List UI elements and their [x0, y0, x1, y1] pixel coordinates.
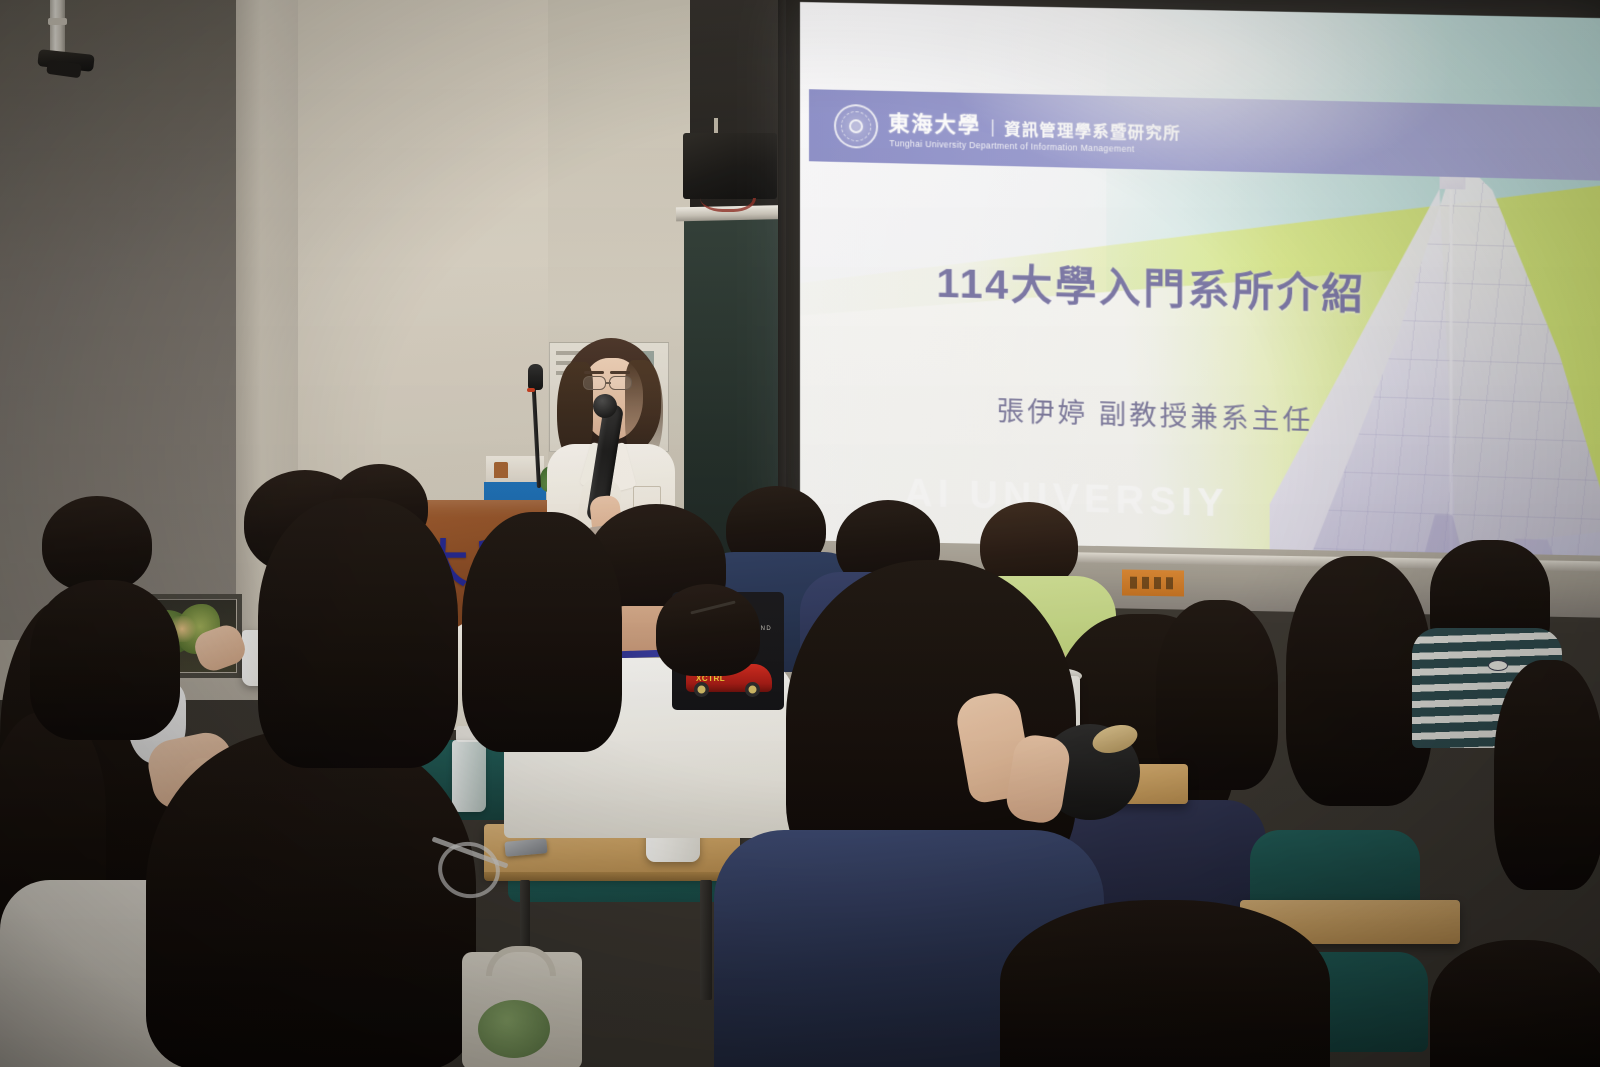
audience-head	[656, 584, 760, 676]
audience-head	[1000, 900, 1330, 1067]
audience-head	[1156, 600, 1278, 790]
round-tin	[478, 1000, 550, 1058]
department-name-cn: 資訊管理學系暨研究所	[1004, 115, 1181, 143]
audience-head	[42, 496, 152, 592]
lecture-hall-scene: 東海大學 | 資訊管理學系暨研究所 Tunghai University Dep…	[0, 0, 1600, 1067]
projection-screen: 東海大學 | 資訊管理學系暨研究所 Tunghai University Dep…	[800, 2, 1600, 571]
orange-notice-sign	[1122, 569, 1184, 596]
bag-strap	[486, 946, 556, 976]
audience-head	[462, 512, 622, 752]
eyeglasses	[583, 376, 606, 390]
header-divider: |	[990, 116, 995, 139]
audience-head	[1430, 940, 1600, 1067]
university-seal-icon	[834, 104, 878, 149]
audience-head	[1494, 660, 1600, 890]
audience-head	[258, 498, 458, 768]
university-name-cn: 東海大學	[889, 107, 982, 139]
luce-chapel-illustration	[1270, 159, 1600, 570]
shirt-logo-patch	[1488, 660, 1508, 671]
desk-leg	[700, 880, 712, 1000]
audience-head	[30, 580, 180, 740]
audience-head	[1286, 556, 1432, 806]
audience-head	[146, 730, 476, 1067]
projector-pole	[50, 0, 65, 54]
wall-speaker-icon	[683, 133, 777, 199]
slide-title: 114大學入門系所介紹	[936, 249, 1365, 321]
water-bottle	[452, 740, 486, 812]
